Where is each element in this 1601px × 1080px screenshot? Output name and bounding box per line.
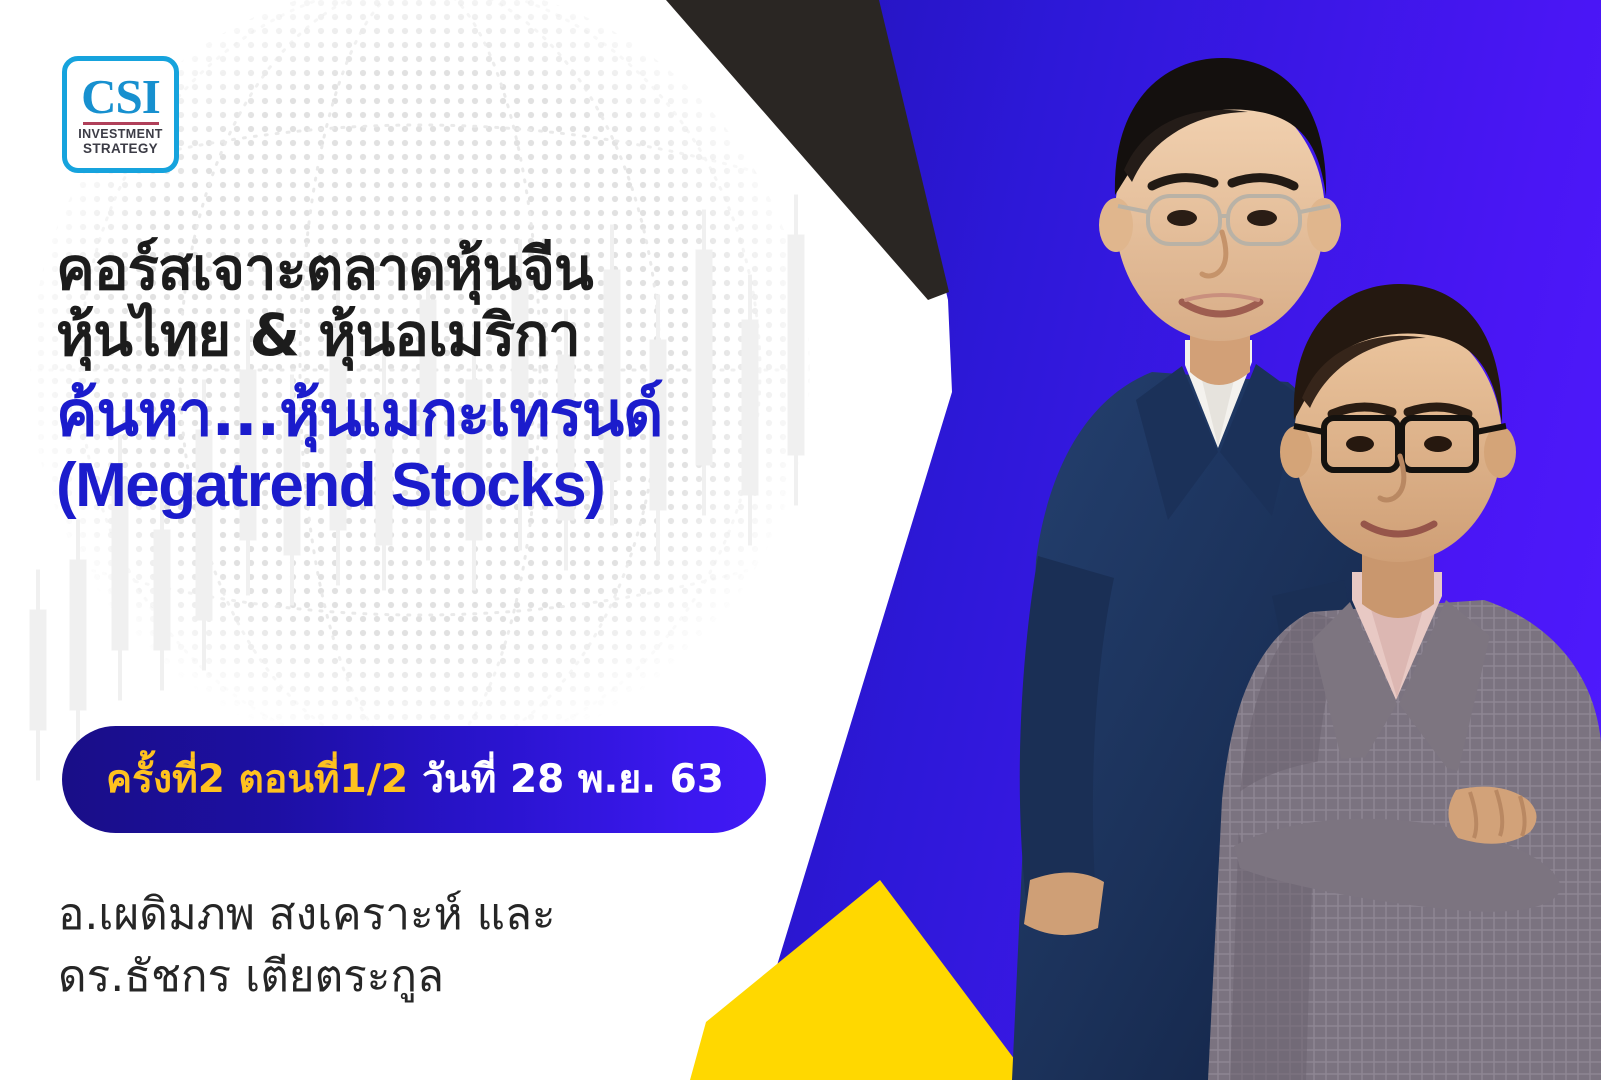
speaker-line-1: อ.เผดิมภพ สงเคราะห์ และ <box>58 884 556 946</box>
headline-line-4: (Megatrend Stocks) <box>56 450 956 522</box>
course-promo-poster: CSI INVESTMENT STRATEGY คอร์สเจาะตลาดหุ้… <box>0 0 1601 1080</box>
speaker-line-2: ดร.ธัชกร เตียตระกูล <box>58 946 556 1008</box>
logo-divider-rule <box>83 122 159 125</box>
csi-logo: CSI INVESTMENT STRATEGY <box>62 56 179 173</box>
badge-session-text: ครั้งที่2 ตอนที่1/2 <box>106 758 422 802</box>
speakers-block: อ.เผดิมภพ สงเคราะห์ และ ดร.ธัชกร เตียตระ… <box>58 884 556 1008</box>
logo-tagline-strategy: STRATEGY <box>83 141 158 156</box>
badge-date-text: วันที่ 28 พ.ย. 63 <box>422 758 724 802</box>
headline-block: คอร์สเจาะตลาดหุ้นจีน หุ้นไทย & หุ้นอเมริ… <box>56 236 956 522</box>
headline-line-1: คอร์สเจาะตลาดหุ้นจีน <box>56 236 956 302</box>
session-date-badge: ครั้งที่2 ตอนที่1/2 วันที่ 28 พ.ย. 63 <box>62 726 766 833</box>
presenters-photo <box>900 0 1601 1080</box>
headline-line-3: ค้นหา...หุ้นเมกะเทรนด์ <box>56 378 956 450</box>
headline-line-2: หุ้นไทย & หุ้นอเมริกา <box>56 302 956 368</box>
logo-wordmark: CSI <box>81 75 160 119</box>
logo-tagline-investment: INVESTMENT <box>78 127 163 141</box>
